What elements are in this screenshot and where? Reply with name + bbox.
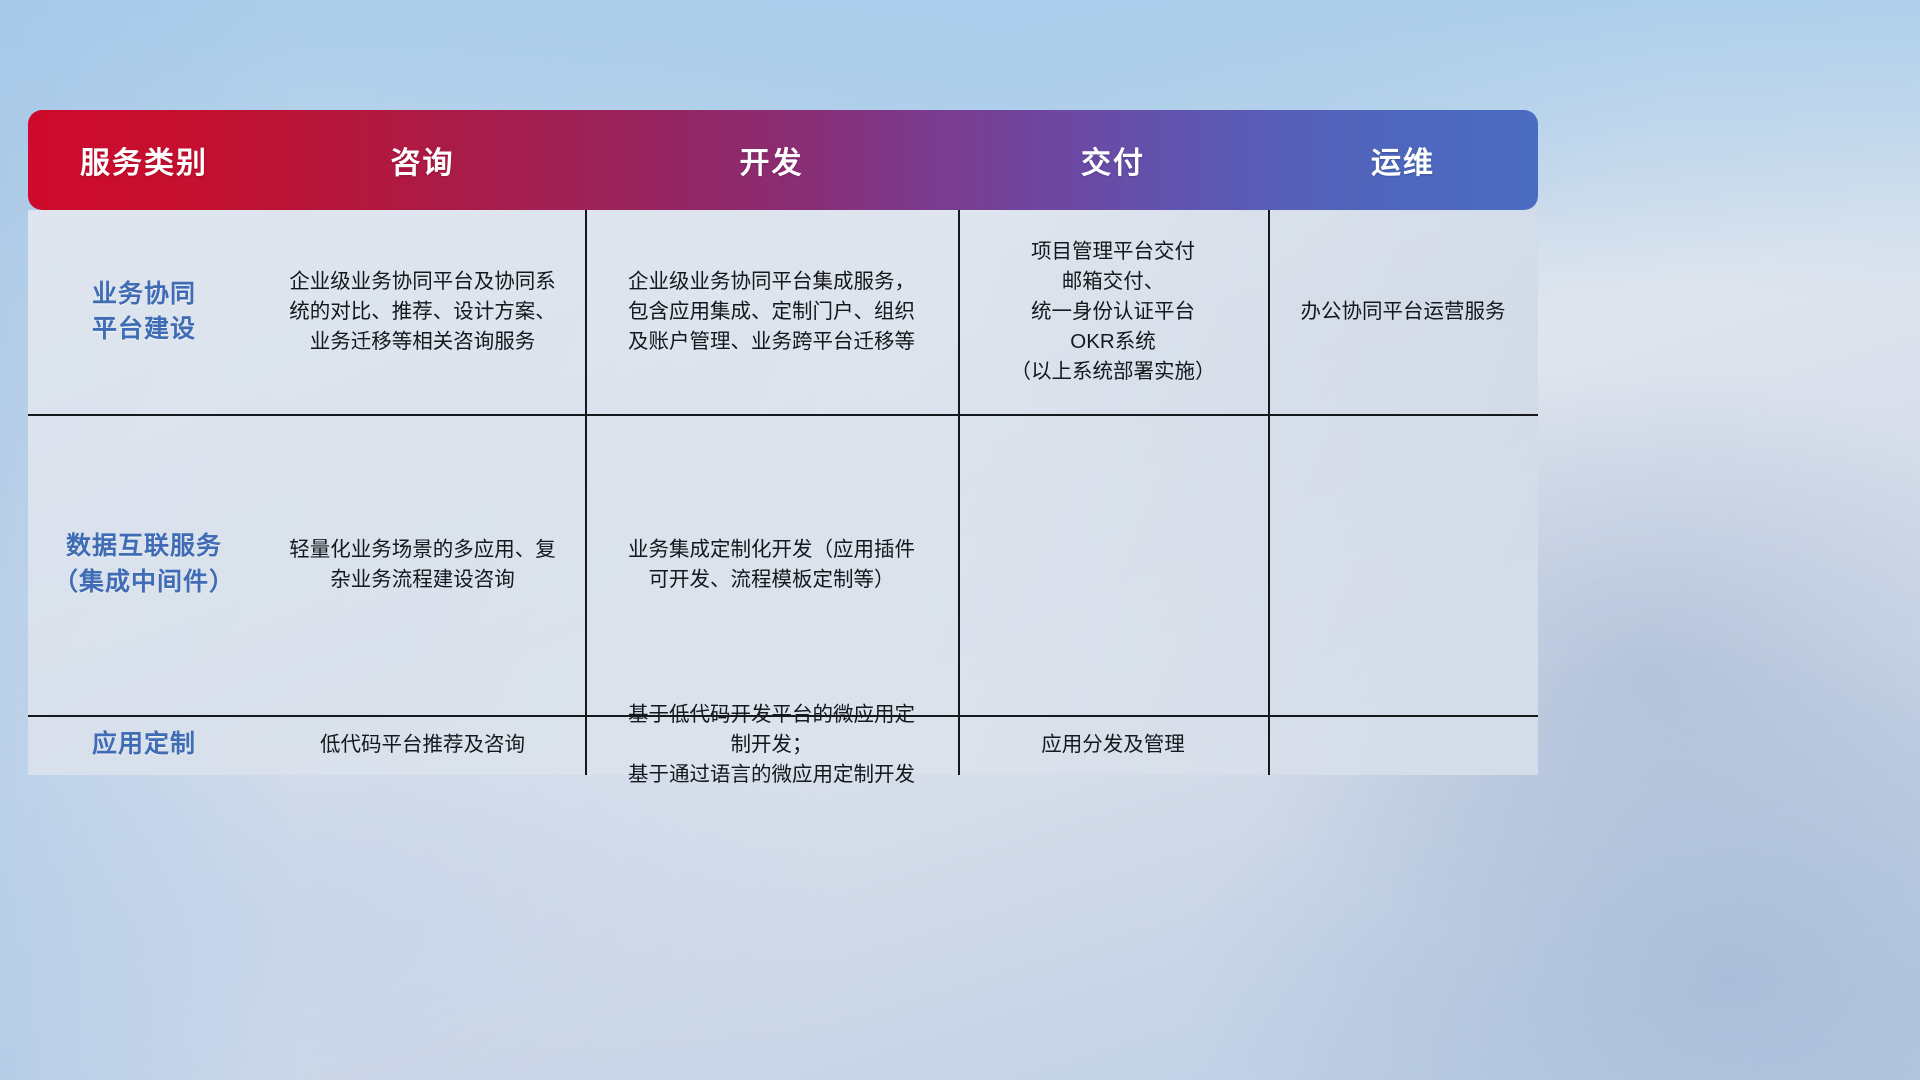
cell-row2-operations xyxy=(1268,414,1538,715)
cell-row1-development: 企业级业务协同平台集成服务， 包含应用集成、定制门户、组织 及账户管理、业务跨平… xyxy=(585,210,958,414)
cell-row3-delivery: 应用分发及管理 xyxy=(958,715,1268,775)
grid-line-vertical xyxy=(958,210,960,775)
row-label-data-integration: 数据互联服务 （集成中间件） xyxy=(28,414,260,715)
table-row: 应用定制 低代码平台推荐及咨询 基于低代码开发平台的微应用定 制开发； 基于通过… xyxy=(28,715,1538,775)
grid-line-vertical xyxy=(1268,210,1270,775)
cell-row1-consulting: 企业级业务协同平台及协同系 统的对比、推荐、设计方案、 业务迁移等相关咨询服务 xyxy=(260,210,585,414)
row-label-application-customization: 应用定制 xyxy=(28,715,260,775)
row-label-business-collaboration: 业务协同 平台建设 xyxy=(28,210,260,414)
cell-row2-delivery xyxy=(958,414,1268,715)
cell-row2-development: 业务集成定制化开发（应用插件 可开发、流程模板定制等） xyxy=(585,414,958,715)
cell-row3-consulting: 低代码平台推荐及咨询 xyxy=(260,715,585,775)
table-header-cell-delivery: 交付 xyxy=(958,110,1268,210)
cell-row1-delivery: 项目管理平台交付 邮箱交付、 统一身份认证平台 OKR系统 （以上系统部署实施） xyxy=(958,210,1268,414)
grid-line-vertical xyxy=(585,210,587,775)
table-row: 业务协同 平台建设 企业级业务协同平台及协同系 统的对比、推荐、设计方案、 业务… xyxy=(28,210,1538,414)
table-header-cell-consulting: 咨询 xyxy=(260,110,585,210)
cell-row3-development: 基于低代码开发平台的微应用定 制开发； 基于通过语言的微应用定制开发 xyxy=(585,715,958,775)
table-header-cell-operations: 运维 xyxy=(1268,110,1538,210)
cell-row2-consulting: 轻量化业务场景的多应用、复 杂业务流程建设咨询 xyxy=(260,414,585,715)
cell-row3-operations xyxy=(1268,715,1538,775)
cell-row1-operations: 办公协同平台运营服务 xyxy=(1268,210,1538,414)
table-row: 数据互联服务 （集成中间件） 轻量化业务场景的多应用、复 杂业务流程建设咨询 业… xyxy=(28,414,1538,715)
grid-line-horizontal xyxy=(28,715,1538,717)
grid-line-horizontal xyxy=(28,414,1538,416)
table-header-row: 服务类别 咨询 开发 交付 运维 xyxy=(28,110,1538,210)
table-header-cell-development: 开发 xyxy=(585,110,958,210)
table-body: 业务协同 平台建设 企业级业务协同平台及协同系 统的对比、推荐、设计方案、 业务… xyxy=(28,210,1538,775)
service-matrix-table: 服务类别 咨询 开发 交付 运维 业务协同 平台建设 企业级业务协同平台及协同系… xyxy=(28,110,1538,775)
table-header-cell-category: 服务类别 xyxy=(28,110,260,210)
